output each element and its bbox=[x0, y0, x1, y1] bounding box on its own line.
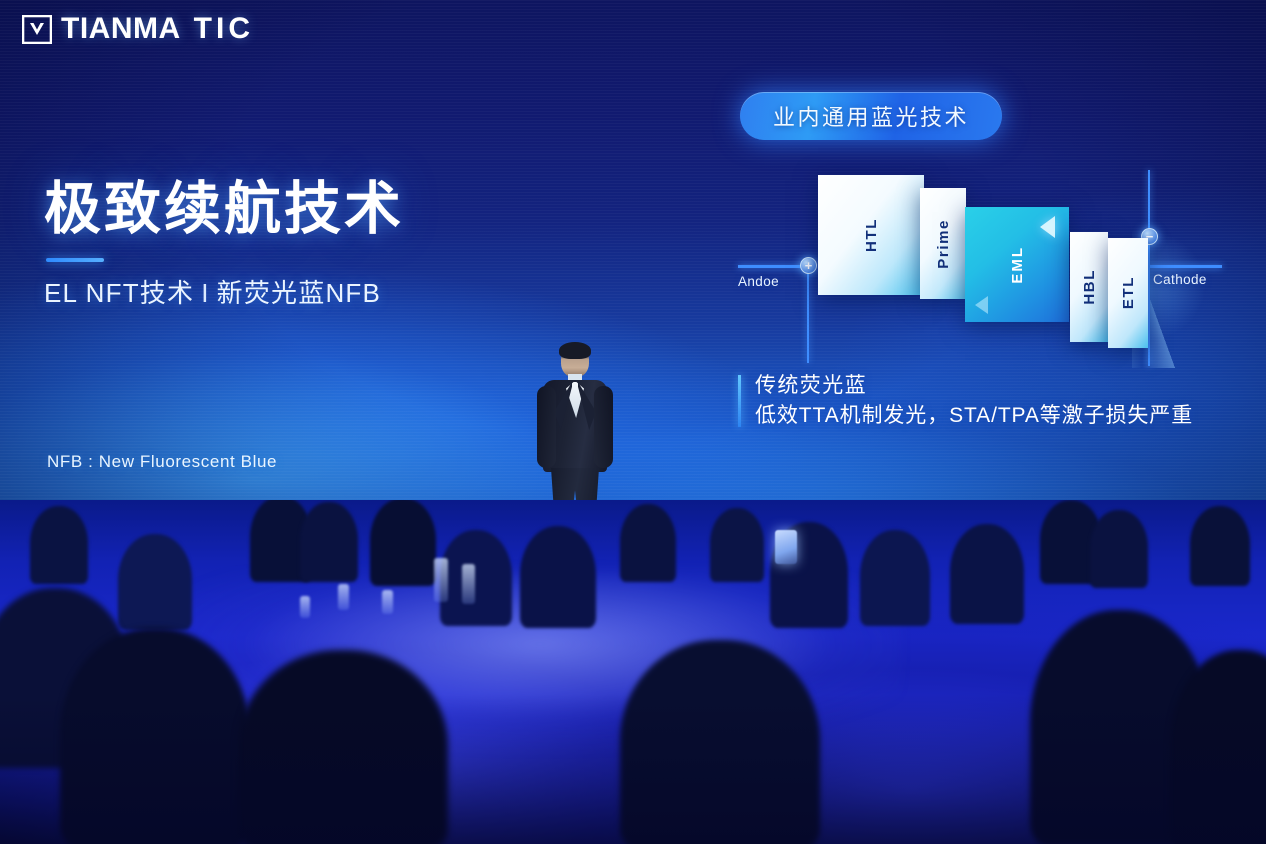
presenter-hair bbox=[559, 342, 591, 359]
audience-person bbox=[300, 502, 358, 582]
caption-line-2: 低效TTA机制发光，STA/TPA等激子损失严重 bbox=[755, 401, 1193, 431]
layer-label-htl: HTL bbox=[863, 218, 880, 252]
layer-block-etl: ETL bbox=[1108, 238, 1148, 348]
audience-person bbox=[860, 530, 930, 626]
badge-label: 业内通用蓝光技术 bbox=[773, 100, 969, 132]
audience-person bbox=[620, 504, 676, 582]
emission-arrow-icon bbox=[1040, 216, 1055, 238]
led-presentation-screen: TIANMATIC 极致续航技术 EL NFT技术I新荧光蓝NFB NFB : … bbox=[0, 0, 1266, 520]
slide-footnote: NFB : New Fluorescent Blue bbox=[47, 452, 277, 472]
audience-area bbox=[0, 500, 1266, 844]
audience-person bbox=[950, 524, 1024, 624]
layer-label-hbl: HBL bbox=[1081, 269, 1098, 305]
emission-arrow-secondary-icon bbox=[975, 296, 988, 314]
slide-subheadline: EL NFT技术I新荧光蓝NFB bbox=[44, 273, 404, 310]
anode-label: Andoe bbox=[738, 274, 779, 289]
table-bottle bbox=[434, 558, 448, 602]
subheadline-part-2: 新荧光蓝NFB bbox=[217, 278, 381, 308]
presenter-arm-right bbox=[594, 386, 613, 468]
audience-phone-screen bbox=[775, 530, 797, 564]
anode-plus-icon: + bbox=[800, 257, 817, 274]
presenter-arm-left bbox=[537, 386, 556, 468]
logo-name: TIANMA bbox=[61, 12, 181, 45]
layer-block-hbl: HBL bbox=[1070, 232, 1108, 342]
table-glass bbox=[300, 596, 310, 618]
layer-block-htl: HTL bbox=[818, 175, 924, 295]
conference-stage-photo: TIANMATIC 极致续航技术 EL NFT技术I新荧光蓝NFB NFB : … bbox=[0, 0, 1266, 844]
logo-wordmark: TIANMATIC bbox=[61, 14, 254, 44]
cathode-vertical-line bbox=[1148, 170, 1150, 366]
tianma-logo: TIANMATIC bbox=[22, 14, 254, 44]
slide-headline-block: 极致续航技术 EL NFT技术I新荧光蓝NFB bbox=[44, 178, 404, 310]
oled-stack-diagram: + Andoe − Cathode HTL Prime EML HBL ETL bbox=[730, 160, 1250, 370]
audience-person bbox=[30, 506, 88, 584]
audience-person bbox=[370, 500, 436, 586]
caption-line-1: 传统荧光蓝 bbox=[755, 371, 1193, 401]
anode-electrode-bar bbox=[738, 265, 808, 268]
diagram-caption: 传统荧光蓝 低效TTA机制发光，STA/TPA等激子损失严重 bbox=[738, 371, 1193, 431]
layer-label-eml: EML bbox=[1009, 246, 1026, 284]
audience-person bbox=[520, 526, 596, 628]
audience-person bbox=[118, 534, 192, 630]
table-glass bbox=[338, 584, 349, 610]
badge-pill: 业内通用蓝光技术 bbox=[740, 92, 1002, 140]
slide-headline: 极致续航技术 bbox=[44, 178, 404, 242]
layer-label-prime: Prime bbox=[935, 219, 952, 269]
audience-person bbox=[1190, 506, 1250, 586]
cathode-label: Cathode bbox=[1153, 272, 1207, 287]
audience-person bbox=[440, 530, 512, 626]
subheadline-part-1: EL NFT技术 bbox=[44, 278, 194, 308]
tianma-mark-icon bbox=[22, 15, 52, 44]
headline-accent-rule bbox=[46, 258, 104, 262]
table-bottle bbox=[462, 564, 475, 604]
audience-person bbox=[1090, 510, 1148, 588]
audience-foreground-shadow bbox=[0, 694, 1266, 844]
presenter-figure bbox=[520, 344, 630, 524]
cathode-electrode-bar bbox=[1150, 265, 1222, 268]
audience-person bbox=[710, 508, 764, 582]
table-glass bbox=[382, 590, 393, 614]
anode-vertical-line bbox=[807, 265, 809, 363]
logo-suffix: TIC bbox=[194, 12, 254, 45]
layer-label-etl: ETL bbox=[1120, 276, 1137, 309]
subheadline-separator: I bbox=[194, 278, 216, 308]
layer-block-prime: Prime bbox=[920, 188, 966, 299]
